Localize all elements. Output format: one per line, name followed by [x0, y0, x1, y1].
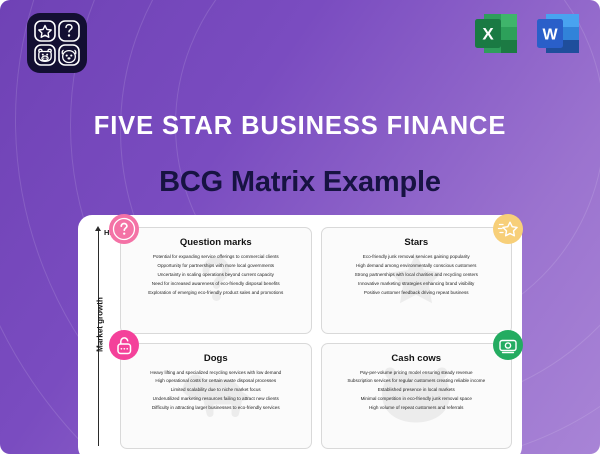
money-icon [493, 330, 523, 360]
word-icon[interactable]: W [532, 8, 584, 60]
list-item: Strong partnerships with local charities… [328, 271, 506, 280]
quadrant-item-list: Heavy lifting and specialized recycling … [127, 369, 305, 414]
quadrant-question-marks[interactable]: Question marks Potential for expanding s… [120, 227, 312, 334]
list-item: High operational costs for certain waste… [127, 377, 305, 386]
list-item: Difficulty in attracting larger business… [127, 404, 305, 413]
list-item: High demand among environmentally consci… [328, 262, 506, 271]
quadrant-title: Stars [328, 237, 506, 248]
question-mark-icon [109, 214, 139, 244]
list-item: Opportunity for partnerships with more l… [127, 262, 305, 271]
page-title: BCG Matrix Example [0, 166, 600, 199]
list-item: Pay-per-volume pricing model ensuring st… [328, 369, 506, 378]
quadrant-item-list: Eco-friendly junk removal services gaini… [328, 253, 506, 298]
list-item: Potential for expanding service offering… [127, 253, 305, 262]
list-item: Eco-friendly junk removal services gaini… [328, 253, 506, 262]
quadrant-title: Dogs [127, 353, 305, 364]
list-item: Established presence in local markets [328, 386, 506, 395]
axis-y-title: Market growth [96, 285, 105, 365]
lock-icon [109, 330, 139, 360]
word-icon-letter: W [542, 27, 558, 44]
list-item: Underutilized marketing resources failin… [127, 395, 305, 404]
list-item: Need for increased awareness of eco-frie… [127, 280, 305, 289]
list-item: Heavy lifting and specialized recycling … [127, 369, 305, 378]
list-item: High volume of repeat customers and refe… [328, 404, 506, 413]
matrix-grid: Question marks Potential for expanding s… [120, 227, 512, 449]
list-item: Uncertainty in scaling operations beyond… [127, 271, 305, 280]
quadrant-dogs[interactable]: Dogs Heavy lifting and specialized recyc… [120, 343, 312, 450]
star-icon [493, 214, 523, 244]
office-app-icons: X W [470, 8, 584, 60]
excel-icon[interactable]: X [470, 8, 522, 60]
quadrant-item-list: Potential for expanding service offering… [127, 253, 305, 298]
list-item: Exploration of emerging eco-friendly pro… [127, 289, 305, 298]
list-item: Limited scalability due to niche market … [127, 386, 305, 395]
quadrant-cash-cows[interactable]: Cash cows Pay-per-volume pricing model e… [321, 343, 513, 450]
list-item: Minimal competition in eco-friendly junk… [328, 395, 506, 404]
slide-canvas: X W FIVE STAR BUSINESS FINANCE BCG Matri… [0, 0, 600, 454]
matrix-card: High Market growth Que [78, 215, 522, 454]
brand-title: FIVE STAR BUSINESS FINANCE [0, 112, 600, 141]
list-item: Innovative marketing strategies enhancin… [328, 280, 506, 289]
quadrant-title: Cash cows [328, 353, 506, 364]
bcg-matrix-logo-icon [26, 12, 88, 74]
list-item: Subscription services for regular custom… [328, 377, 506, 386]
quadrant-title: Question marks [127, 237, 305, 248]
excel-icon-letter: X [482, 25, 494, 44]
quadrant-item-list: Pay-per-volume pricing model ensuring st… [328, 369, 506, 414]
quadrant-stars[interactable]: Stars Eco-friendly junk removal services… [321, 227, 513, 334]
list-item: Positive customer feedback driving repea… [328, 289, 506, 298]
